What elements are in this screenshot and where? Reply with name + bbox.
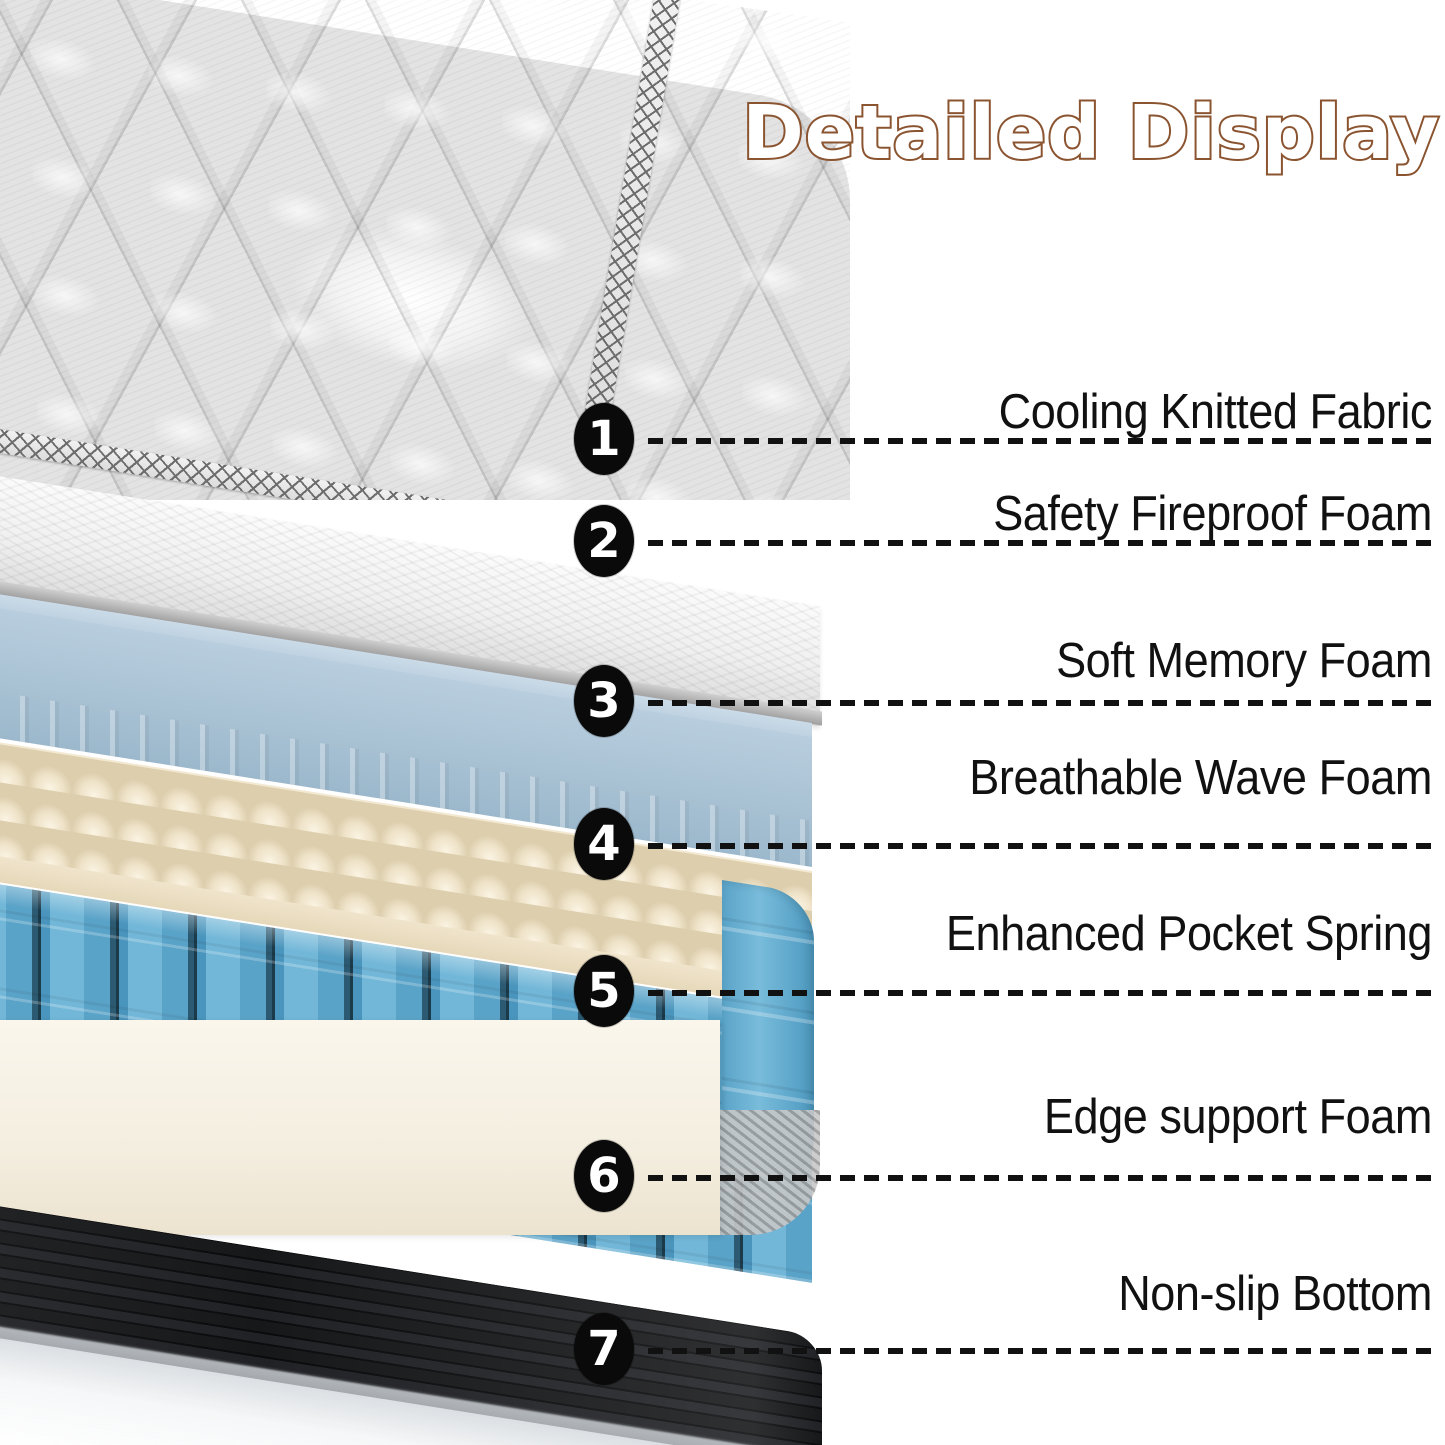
page-title: Detailed Display — [660, 96, 1440, 170]
layer-label-2: Safety Fireproof Foam — [391, 486, 1432, 542]
layer-label-5: Enhanced Pocket Spring — [391, 906, 1432, 962]
product-layer-infographic: Detailed Display 1Cooling Knitted Fabric… — [0, 0, 1445, 1445]
mattress-cross-section-illustration — [0, 0, 860, 1445]
leader-line-4 — [648, 843, 1432, 849]
layer-badge-3: 3 — [574, 665, 634, 737]
layer-badge-2: 2 — [574, 505, 634, 577]
leader-line-3 — [648, 700, 1432, 706]
layer-badge-1: 1 — [574, 403, 634, 475]
layer-badge-6: 6 — [574, 1140, 634, 1212]
layer-badge-4: 4 — [574, 808, 634, 880]
layer-label-3: Soft Memory Foam — [391, 633, 1432, 689]
layer-label-1: Cooling Knitted Fabric — [391, 384, 1432, 440]
layer-badge-7: 7 — [574, 1313, 634, 1385]
leader-line-5 — [648, 990, 1432, 996]
leader-line-7 — [648, 1348, 1432, 1354]
layer-badge-5: 5 — [574, 955, 634, 1027]
layer-label-7: Non-slip Bottom — [391, 1266, 1432, 1322]
layer-label-4: Breathable Wave Foam — [391, 750, 1432, 806]
layer-label-6: Edge support Foam — [391, 1089, 1432, 1145]
leader-line-6 — [648, 1175, 1432, 1181]
